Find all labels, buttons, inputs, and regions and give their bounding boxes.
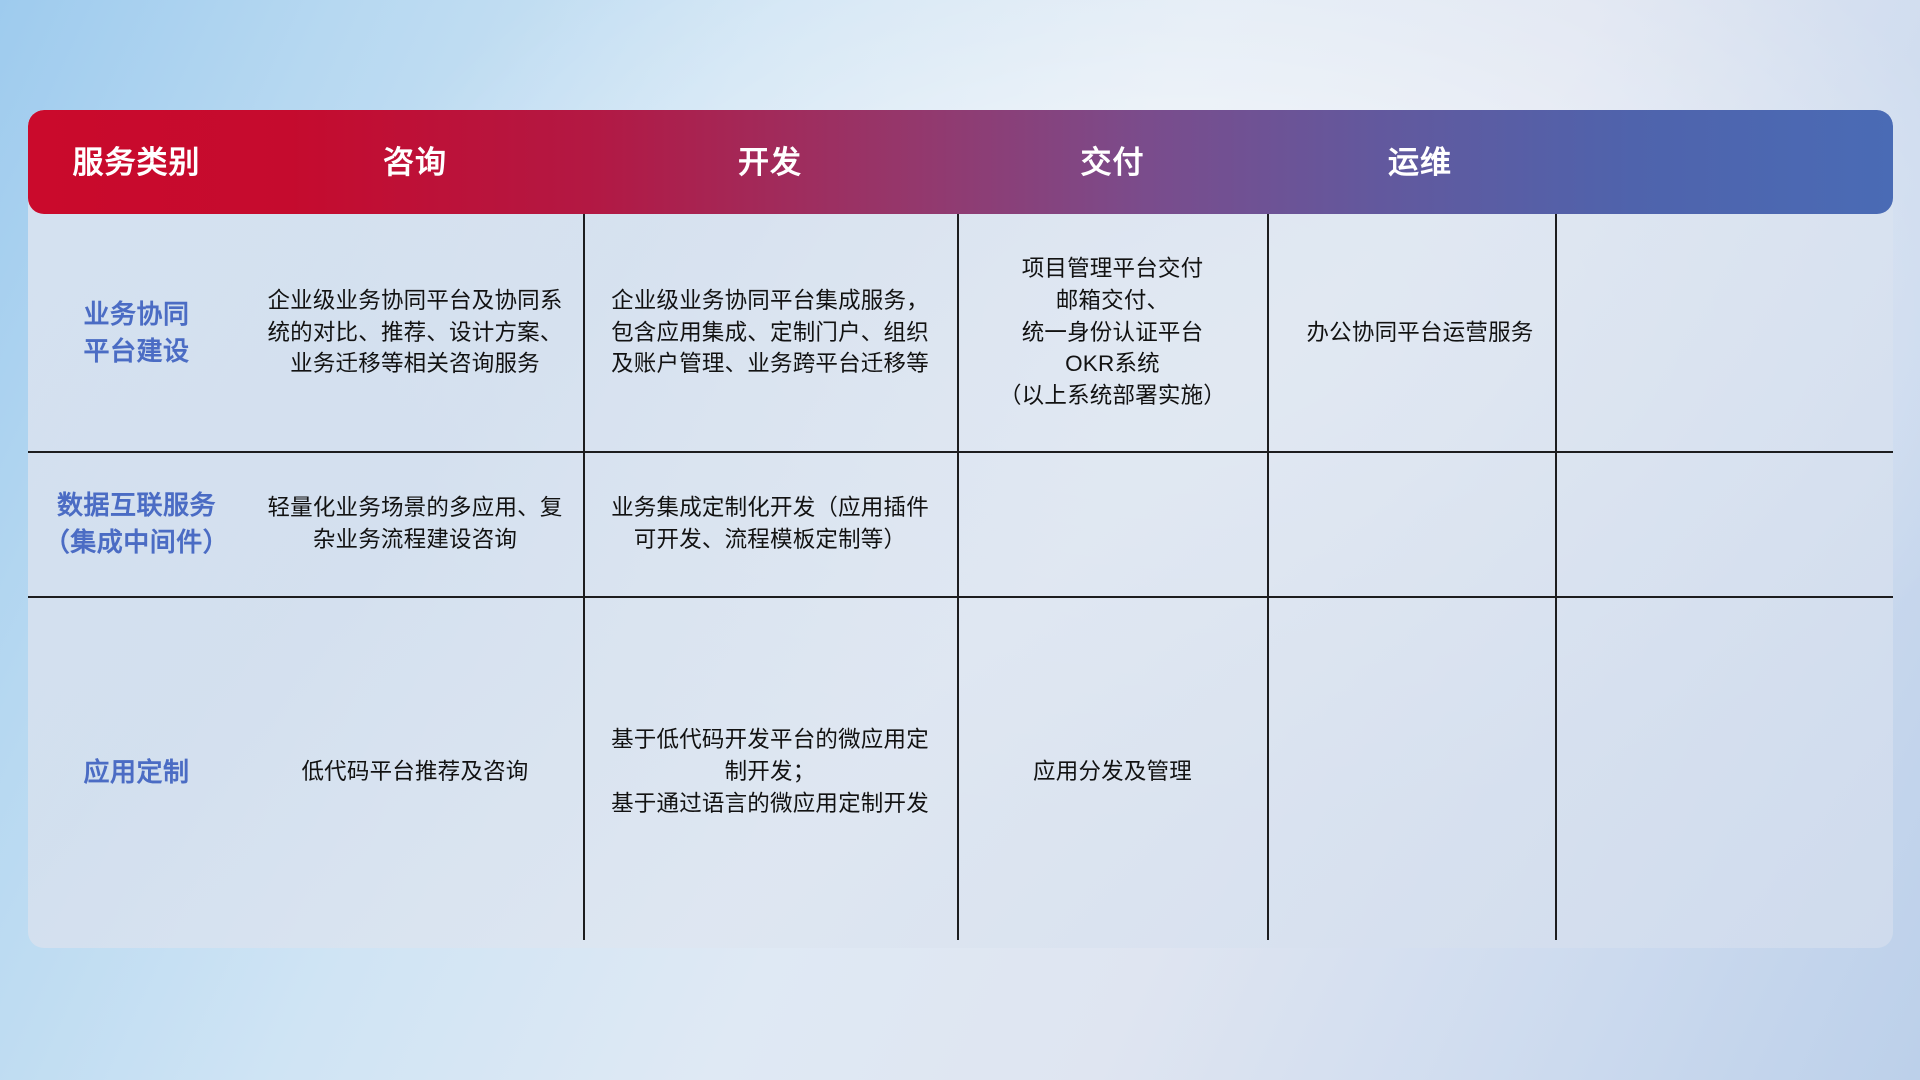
cell-operations: 办公协同平台运营服务 [1270,214,1570,451]
cell-delivery [955,451,1270,596]
header-cell-development: 开发 [585,147,955,178]
header-cell-operations: 运维 [1270,147,1570,178]
cell-development: 业务集成定制化开发（应用插件 可开发、流程模板定制等） [585,451,955,596]
cell-text: 应用分发及管理 [1033,756,1192,788]
cell-consulting: 轻量化业务场景的多应用、复 杂业务流程建设咨询 [245,451,585,596]
cell-consulting: 企业级业务协同平台及协同系 统的对比、推荐、设计方案、 业务迁移等相关咨询服务 [245,214,585,451]
row-label-text: 应用定制 [83,754,189,791]
header-cell-consulting: 咨询 [245,147,585,178]
header-cell-delivery: 交付 [955,147,1270,178]
service-matrix-panel: 服务类别 咨询 开发 交付 运维 业务协同 平台建设 企业级业务协同平台及协同系… [28,110,1893,948]
row-divider [28,596,1893,598]
table-header-row: 服务类别 咨询 开发 交付 运维 [28,110,1893,214]
cell-development: 基于低代码开发平台的微应用定 制开发； 基于通过语言的微应用定制开发 [585,596,955,948]
table-body: 业务协同 平台建设 企业级业务协同平台及协同系 统的对比、推荐、设计方案、 业务… [28,214,1893,948]
row-label-text: 数据互联服务 （集成中间件） [44,487,230,561]
cell-text: 企业级业务协同平台集成服务， 包含应用集成、定制门户、组织 及账户管理、业务跨平… [611,285,929,381]
cell-text: 基于低代码开发平台的微应用定 制开发； 基于通过语言的微应用定制开发 [611,724,929,820]
row-label-cell: 数据互联服务 （集成中间件） [28,451,245,596]
column-divider [1555,214,1557,940]
cell-text: 项目管理平台交付 邮箱交付、 统一身份认证平台 OKR系统 （以上系统部署实施） [999,253,1226,413]
row-label-text: 业务协同 平台建设 [83,296,189,370]
cell-text: 业务集成定制化开发（应用插件 可开发、流程模板定制等） [611,492,929,556]
cell-text: 轻量化业务场景的多应用、复 杂业务流程建设咨询 [267,492,562,556]
table-row: 业务协同 平台建设 企业级业务协同平台及协同系 统的对比、推荐、设计方案、 业务… [28,214,1893,451]
row-divider [28,451,1893,453]
table-row: 应用定制 低代码平台推荐及咨询 基于低代码开发平台的微应用定 制开发； 基于通过… [28,596,1893,948]
cell-text: 办公协同平台运营服务 [1306,317,1533,349]
row-label-cell: 业务协同 平台建设 [28,214,245,451]
cell-text: 企业级业务协同平台及协同系 统的对比、推荐、设计方案、 业务迁移等相关咨询服务 [267,285,562,381]
column-divider [957,214,959,940]
header-cell-category: 服务类别 [28,147,245,178]
table-row: 数据互联服务 （集成中间件） 轻量化业务场景的多应用、复 杂业务流程建设咨询 业… [28,451,1893,596]
column-divider [583,214,585,940]
cell-delivery: 应用分发及管理 [955,596,1270,948]
cell-consulting: 低代码平台推荐及咨询 [245,596,585,948]
column-divider [1267,214,1269,940]
cell-development: 企业级业务协同平台集成服务， 包含应用集成、定制门户、组织 及账户管理、业务跨平… [585,214,955,451]
row-label-cell: 应用定制 [28,596,245,948]
page-root: 服务类别 咨询 开发 交付 运维 业务协同 平台建设 企业级业务协同平台及协同系… [0,0,1920,1080]
cell-operations [1270,451,1570,596]
cell-text: 低代码平台推荐及咨询 [301,756,528,788]
cell-operations [1270,596,1570,948]
cell-delivery: 项目管理平台交付 邮箱交付、 统一身份认证平台 OKR系统 （以上系统部署实施） [955,214,1270,451]
